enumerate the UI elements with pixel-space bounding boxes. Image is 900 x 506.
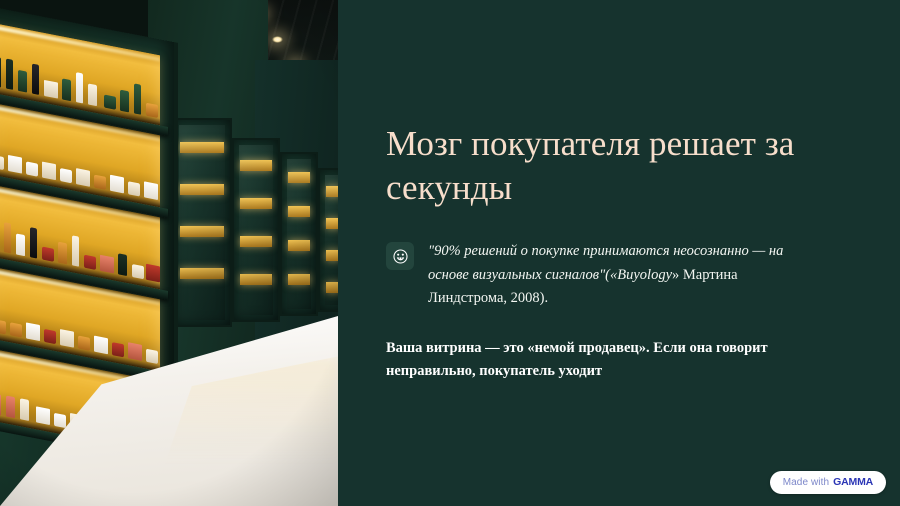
slide-image-panel	[0, 0, 338, 506]
presentation-slide: Мозг покупателя решает за секунды "90% р…	[0, 0, 900, 506]
glass-display-cabinet	[318, 168, 338, 312]
quote-book-title: Buyology	[617, 267, 672, 283]
slide-content: Мозг покупателя решает за секунды "90% р…	[338, 0, 900, 506]
gamma-brand-label: GAMMA	[833, 476, 873, 488]
ceiling-spotlight	[272, 36, 283, 43]
slide-headline: Мозг покупателя решает за секунды	[386, 122, 840, 210]
glass-display-cabinet	[280, 152, 318, 316]
glass-display-cabinet	[232, 138, 280, 322]
made-with-gamma-badge[interactable]: Made with GAMMA	[770, 471, 886, 494]
quote-block: "90% решений о покупке принимаются неосо…	[386, 240, 816, 310]
store-interior-photo	[0, 0, 338, 506]
glass-display-cabinet	[172, 118, 232, 327]
made-with-label: Made with	[783, 477, 829, 488]
slide-kicker-text: Ваша витрина — это «немой продавец». Есл…	[386, 337, 806, 384]
smiley-face-icon	[386, 242, 414, 270]
quote-text: "90% решений о покупке принимаются неосо…	[428, 240, 816, 310]
